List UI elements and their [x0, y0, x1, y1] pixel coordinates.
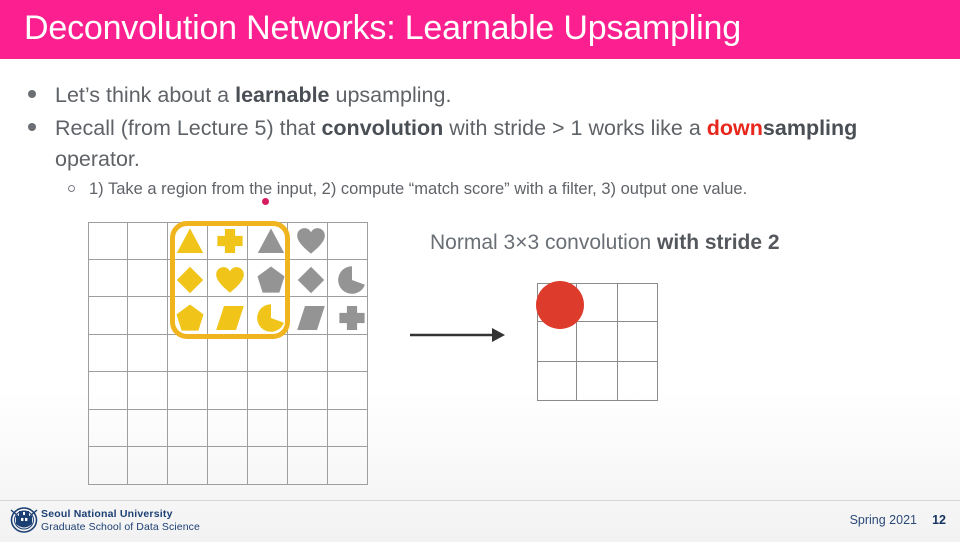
grid-cell	[128, 260, 168, 298]
grid-row	[88, 447, 373, 485]
grid-row	[88, 372, 373, 410]
bullet-2-seg-5: operator.	[55, 147, 140, 171]
bullet-1-seg-1: learnable	[235, 83, 329, 107]
bullet-2-seg-3: down	[707, 116, 763, 140]
output-grid-cell	[618, 362, 658, 401]
slide-canvas: Deconvolution Networks: Learnable Upsamp…	[0, 0, 960, 542]
grid-cell	[248, 335, 288, 373]
slide-title-bar: Deconvolution Networks: Learnable Upsamp…	[0, 0, 960, 59]
grid-cell	[128, 447, 168, 485]
conv-caption-seg-1: with stride 2	[657, 231, 780, 254]
footer-page-number: 12	[932, 513, 946, 527]
laser-pointer-dot-icon	[262, 198, 269, 205]
bullet-item-1: Let’s think about a learnable upsampling…	[28, 80, 908, 111]
bullet-marker-hollow-circle-icon	[68, 185, 75, 192]
grid-cell	[88, 372, 128, 410]
bullet-item-2: Recall (from Lecture 5) that convolution…	[28, 113, 908, 175]
grid-cell	[208, 447, 248, 485]
grid-cell	[288, 372, 328, 410]
grid-cell	[168, 335, 208, 373]
bullet-3-text: 1) Take a region from the input, 2) comp…	[89, 177, 747, 201]
grid-cell	[88, 335, 128, 373]
grid-cell	[328, 260, 368, 298]
conv-caption: Normal 3×3 convolution with stride 2	[430, 231, 780, 255]
grid-cell	[88, 297, 128, 335]
slide-title: Deconvolution Networks: Learnable Upsamp…	[24, 9, 741, 48]
grid-cell	[328, 222, 368, 260]
bullet-2-seg-4: sampling	[763, 116, 857, 140]
grid-cell	[88, 260, 128, 298]
grid-cell	[128, 222, 168, 260]
grid-cell	[88, 410, 128, 448]
grid-cell	[208, 372, 248, 410]
bullet-2-seg-0: Recall (from Lecture 5) that	[55, 116, 321, 140]
grid-cell	[288, 410, 328, 448]
bullet-marker-disc-icon	[28, 90, 36, 98]
grid-cell	[328, 410, 368, 448]
grid-cell	[168, 447, 208, 485]
grid-cell	[128, 297, 168, 335]
grid-cell	[288, 297, 328, 335]
bullet-2-seg-2: with stride > 1 works like a	[443, 116, 706, 140]
bullet-2-seg-1: convolution	[321, 116, 443, 140]
grid-cell	[248, 410, 288, 448]
footer-divider	[0, 500, 960, 501]
grid-cell	[248, 372, 288, 410]
receptive-field-highlight	[170, 221, 290, 339]
grid-cell	[208, 410, 248, 448]
grid-cell	[288, 222, 328, 260]
output-grid-cell	[618, 322, 658, 361]
bullet-2-text: Recall (from Lecture 5) that convolution…	[55, 113, 908, 175]
output-grid-cell	[577, 322, 617, 361]
bullet-item-3: 1) Take a region from the input, 2) comp…	[68, 177, 928, 201]
grid-cell	[88, 222, 128, 260]
grid-cell	[128, 372, 168, 410]
grid-row	[88, 410, 373, 448]
grid-cell	[128, 410, 168, 448]
footer-department-name: Graduate School of Data Science	[41, 521, 200, 533]
bullet-marker-disc-icon	[28, 123, 36, 131]
transform-arrow-icon	[408, 324, 508, 346]
grid-cell	[328, 372, 368, 410]
bullet-1-text: Let’s think about a learnable upsampling…	[55, 80, 451, 111]
grid-cell	[328, 447, 368, 485]
seoul-national-university-crest-icon	[10, 506, 38, 534]
bullet-1-seg-0: Let’s think about a	[55, 83, 235, 107]
footer-university-name: Seoul National University	[41, 508, 173, 520]
grid-cell	[288, 447, 328, 485]
output-grid-cell	[537, 362, 577, 401]
grid-cell	[128, 335, 168, 373]
grid-cell	[168, 410, 208, 448]
grid-cell	[288, 335, 328, 373]
grid-cell	[208, 335, 248, 373]
output-grid-cell	[577, 362, 617, 401]
footer-term-label: Spring 2021	[850, 513, 917, 527]
bullet-1-seg-2: upsampling.	[330, 83, 452, 107]
output-activation-dot-icon	[536, 281, 584, 329]
output-grid-row	[537, 362, 658, 401]
grid-cell	[328, 297, 368, 335]
grid-cell	[288, 260, 328, 298]
grid-cell	[88, 447, 128, 485]
output-grid-cell	[618, 283, 658, 322]
grid-cell	[328, 335, 368, 373]
conv-caption-seg-0: Normal 3×3 convolution	[430, 231, 657, 254]
grid-cell	[248, 447, 288, 485]
grid-row	[88, 335, 373, 373]
grid-cell	[168, 372, 208, 410]
